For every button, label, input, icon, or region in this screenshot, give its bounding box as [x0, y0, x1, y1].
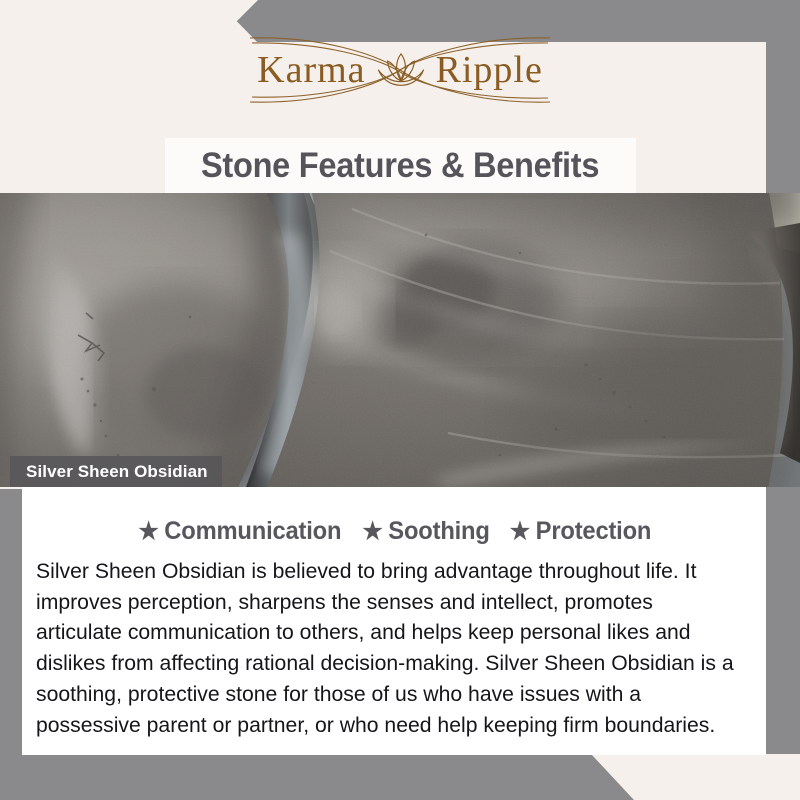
- brand-logo: Karma Ripple: [190, 34, 610, 106]
- title-banner: Stone Features & Benefits: [165, 138, 636, 193]
- brand-name: Karma Ripple: [255, 48, 545, 92]
- frame-band-left: [0, 489, 22, 800]
- brand-name-left: Karma: [255, 48, 367, 92]
- feature-item-soothing: ★ Soothing: [363, 517, 490, 546]
- feature-label: Soothing: [389, 517, 490, 546]
- feature-label: Protection: [536, 517, 652, 546]
- star-icon: ★: [510, 520, 530, 544]
- brand-name-right: Ripple: [434, 48, 545, 92]
- feature-list: ★ Communication ★ Soothing ★ Protection: [22, 487, 766, 546]
- feature-item-communication: ★ Communication: [138, 517, 341, 546]
- star-icon: ★: [363, 520, 383, 544]
- stone-name-badge: Silver Sheen Obsidian: [10, 456, 222, 487]
- feature-item-protection: ★ Protection: [510, 517, 652, 546]
- page-title: Stone Features & Benefits: [201, 146, 599, 186]
- product-info-card: Karma Ripple Stone Features & Benefits: [0, 0, 800, 800]
- star-icon: ★: [138, 520, 158, 544]
- stone-photo: Silver Sheen Obsidian: [0, 193, 800, 487]
- feature-label: Communication: [164, 517, 341, 546]
- stone-description: Silver Sheen Obsidian is believed to bri…: [36, 556, 741, 740]
- stone-photo-image: [0, 193, 800, 487]
- stone-details-section: ★ Communication ★ Soothing ★ Protection …: [22, 487, 766, 755]
- lotus-icon: [374, 48, 428, 92]
- stone-name-label: Silver Sheen Obsidian: [26, 462, 208, 482]
